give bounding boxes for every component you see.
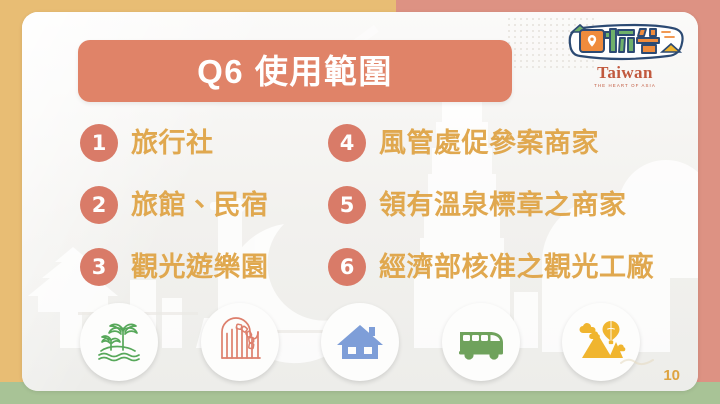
list-item-label: 旅行社	[131, 130, 214, 157]
logo-tagline: THE HEART OF ASIA	[566, 84, 684, 88]
category-icon-row	[80, 303, 640, 391]
list-item[interactable]: 5 領有溫泉標章之商家	[328, 174, 698, 236]
brand-logo: Taiwan THE HEART OF ASIA	[566, 18, 684, 100]
page-title: Q6 使用範圍	[197, 55, 393, 88]
list-item-label: 觀光遊樂園	[131, 254, 269, 281]
scope-list-right-column: 4 風管處促參案商家 5 領有溫泉標章之商家 6 經濟部核准之觀光工廠	[328, 112, 698, 298]
palm-island-icon[interactable]	[80, 303, 158, 381]
list-item-number: 5	[328, 186, 366, 224]
list-item-number: 4	[328, 124, 366, 162]
list-item-label: 風管處促參案商家	[379, 130, 599, 157]
squiggle-decoration	[620, 357, 654, 367]
list-item-number: 2	[80, 186, 118, 224]
list-item-number: 3	[80, 248, 118, 286]
list-item-label: 領有溫泉標章之商家	[379, 192, 627, 219]
list-item[interactable]: 6 經濟部核准之觀光工廠	[328, 236, 698, 298]
list-item-number: 1	[80, 124, 118, 162]
roller-coaster-icon[interactable]	[201, 303, 279, 381]
slide: Q6 使用範圍	[0, 0, 720, 404]
logo-wordmark: Taiwan	[566, 64, 684, 81]
page-number: 10	[663, 368, 680, 383]
scope-list-left-column: 1 旅行社 2 旅館、民宿 3 觀光遊樂園	[80, 112, 316, 298]
list-item[interactable]: 4 風管處促參案商家	[328, 112, 698, 174]
title-banner: Q6 使用範圍	[78, 40, 512, 102]
list-item-label: 旅館、民宿	[131, 192, 269, 219]
list-item[interactable]: 1 旅行社	[80, 112, 316, 174]
list-item-number: 6	[328, 248, 366, 286]
bus-icon[interactable]	[442, 303, 520, 381]
scope-list: 1 旅行社 2 旅館、民宿 3 觀光遊樂園 4 風管處促參案商家	[80, 112, 698, 302]
list-item[interactable]: 2 旅館、民宿	[80, 174, 316, 236]
list-item-label: 經濟部核准之觀光工廠	[379, 254, 654, 281]
guolvquan-logo-icon	[566, 18, 684, 62]
house-icon[interactable]	[321, 303, 399, 381]
mountain-balloon-icon[interactable]	[562, 303, 640, 381]
list-item[interactable]: 3 觀光遊樂園	[80, 236, 316, 298]
slide-card: Q6 使用範圍	[22, 12, 698, 391]
